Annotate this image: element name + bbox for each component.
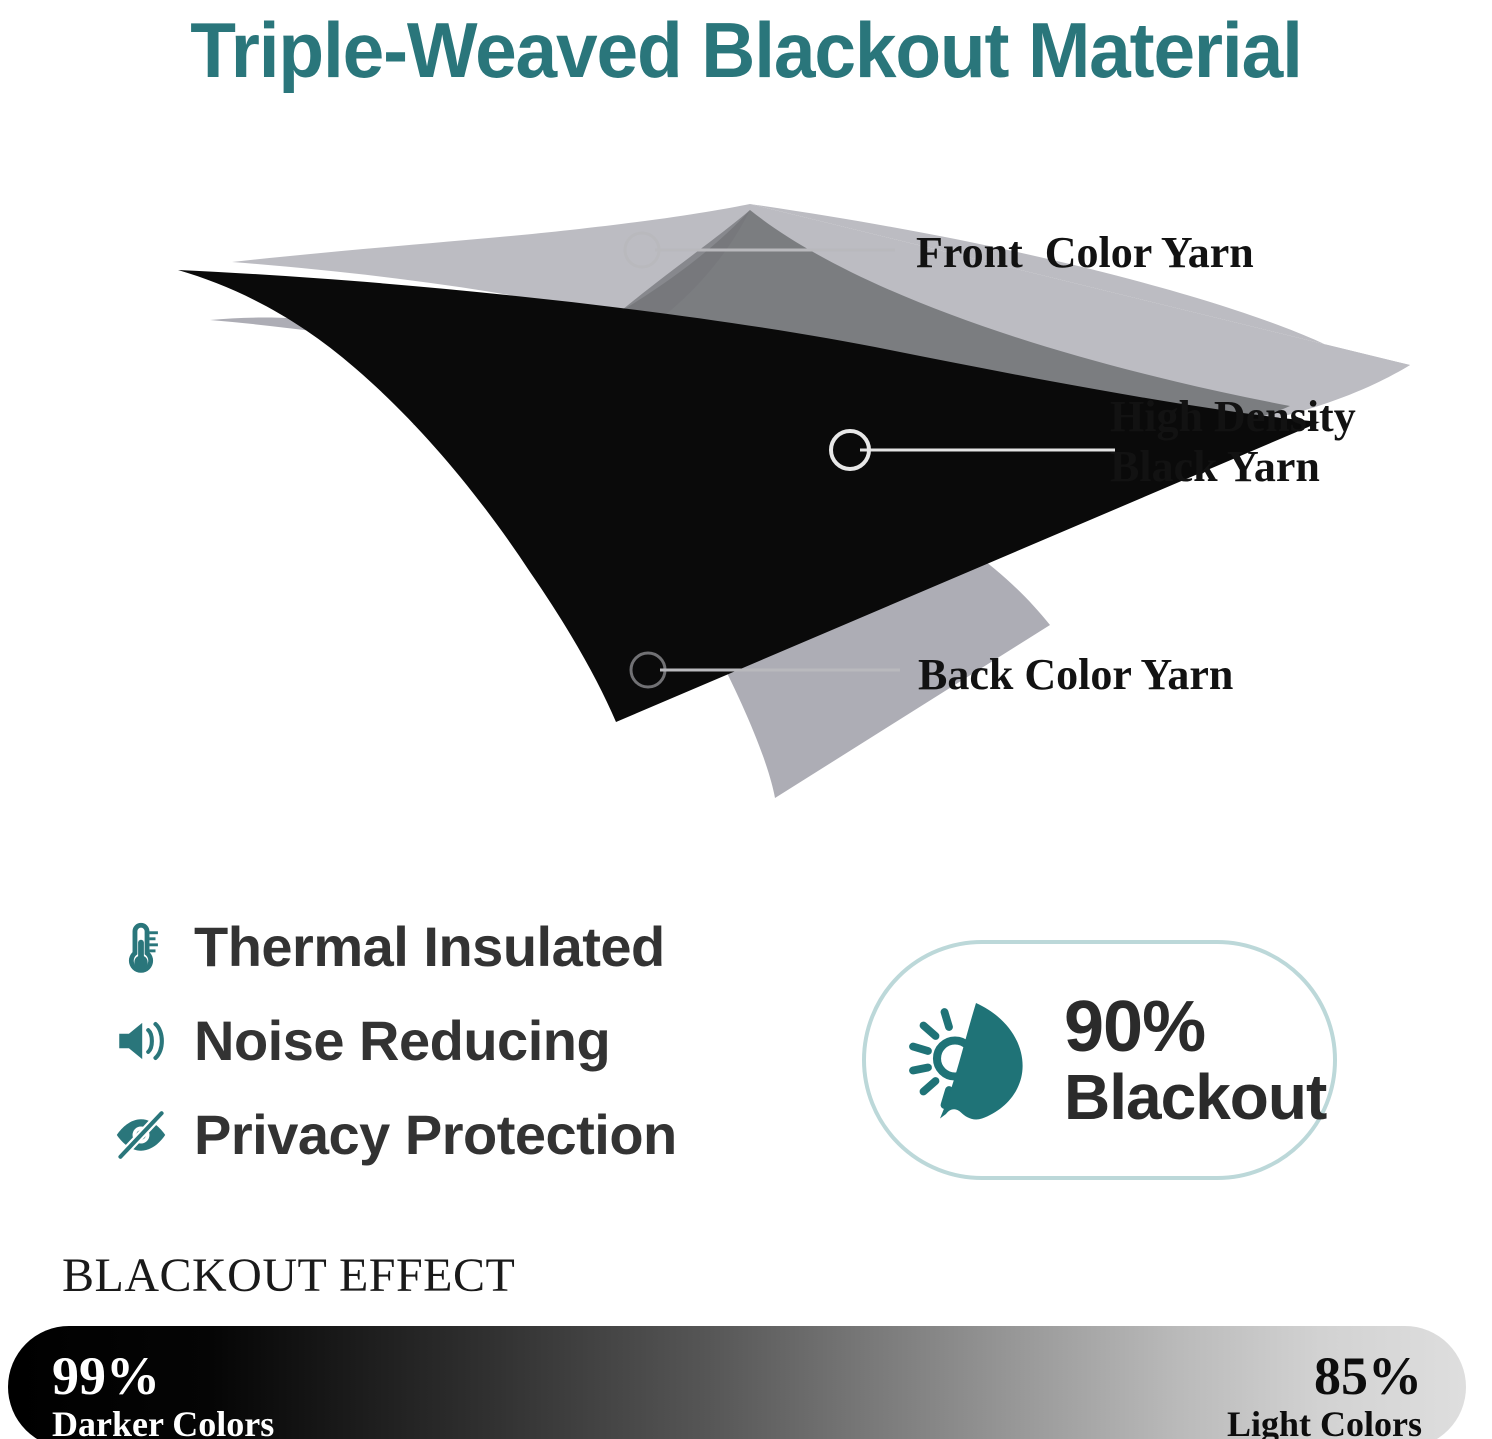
page-title: Triple-Weaved Blackout Material: [30, 2, 1462, 98]
stat-darker-percent: 99%: [52, 1348, 274, 1404]
badge-text-block: 90% Blackout: [1064, 990, 1326, 1130]
feature-label-thermal: Thermal Insulated: [194, 918, 665, 976]
feature-item-thermal: Thermal Insulated: [110, 900, 810, 994]
eye-off-icon: [110, 1104, 172, 1166]
stat-light-colors: 85% Light Colors: [1227, 1348, 1422, 1439]
callout-label-middle: High Density Black Yarn: [1110, 392, 1356, 492]
callout-label-front: Front Color Yarn: [916, 228, 1254, 278]
feature-label-privacy: Privacy Protection: [194, 1106, 677, 1164]
stat-darker-colors: 99% Darker Colors: [52, 1348, 274, 1439]
stat-light-percent: 85%: [1227, 1348, 1422, 1404]
blackout-effect-heading: BLACKOUT EFFECT: [62, 1250, 515, 1302]
blackout-badge: 90% Blackout: [862, 940, 1337, 1180]
badge-word: Blackout: [1064, 1064, 1326, 1130]
badge-percent: 90%: [1064, 990, 1326, 1064]
stat-light-label: Light Colors: [1227, 1404, 1422, 1439]
feature-list: Thermal Insulated Noise Reducing: [110, 900, 810, 1182]
infographic-page: Triple-Weaved Blackout Material: [0, 0, 1492, 1439]
callout-label-back: Back Color Yarn: [918, 650, 1233, 700]
feature-item-noise: Noise Reducing: [110, 994, 810, 1088]
speaker-icon: [110, 1010, 172, 1072]
feature-label-noise: Noise Reducing: [194, 1012, 610, 1070]
sun-blocked-curtain-icon: [890, 980, 1050, 1140]
feature-item-privacy: Privacy Protection: [110, 1088, 810, 1182]
thermometer-icon: [110, 916, 172, 978]
stat-darker-label: Darker Colors: [52, 1404, 274, 1439]
